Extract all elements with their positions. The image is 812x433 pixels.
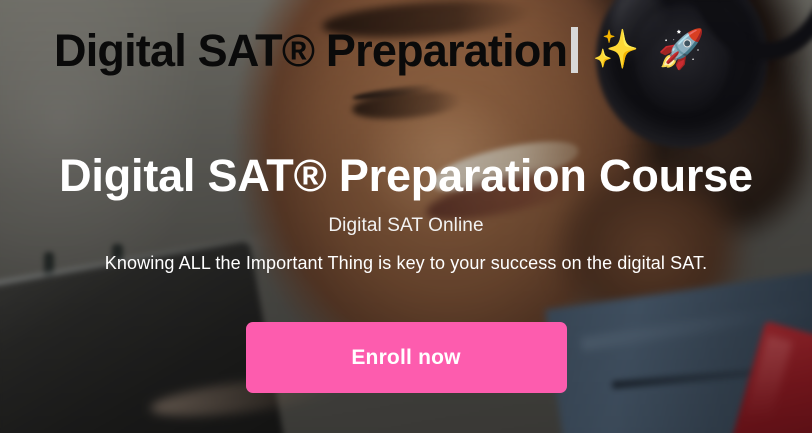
text-cursor <box>571 27 578 73</box>
hero-heading: Digital SAT® Preparation Course <box>24 152 788 199</box>
hero-tagline: Knowing ALL the Important Thing is key t… <box>24 253 788 274</box>
page-title-row[interactable]: Digital SAT® Preparation ✨ 🚀 <box>54 27 705 73</box>
cta-container: Enroll now <box>0 322 812 393</box>
enroll-now-button[interactable]: Enroll now <box>246 322 567 393</box>
hero-banner: Digital SAT® Preparation ✨ 🚀 Digital SAT… <box>0 0 812 433</box>
sparkles-emoji: ✨ <box>592 31 639 69</box>
hero-text-block: Digital SAT® Preparation Course Digital … <box>0 152 812 274</box>
rocket-emoji: 🚀 <box>658 31 705 69</box>
hero-subtitle: Digital SAT Online <box>24 215 788 237</box>
page-title[interactable]: Digital SAT® Preparation <box>54 28 567 73</box>
hero-content: Digital SAT® Preparation ✨ 🚀 Digital SAT… <box>0 0 812 433</box>
